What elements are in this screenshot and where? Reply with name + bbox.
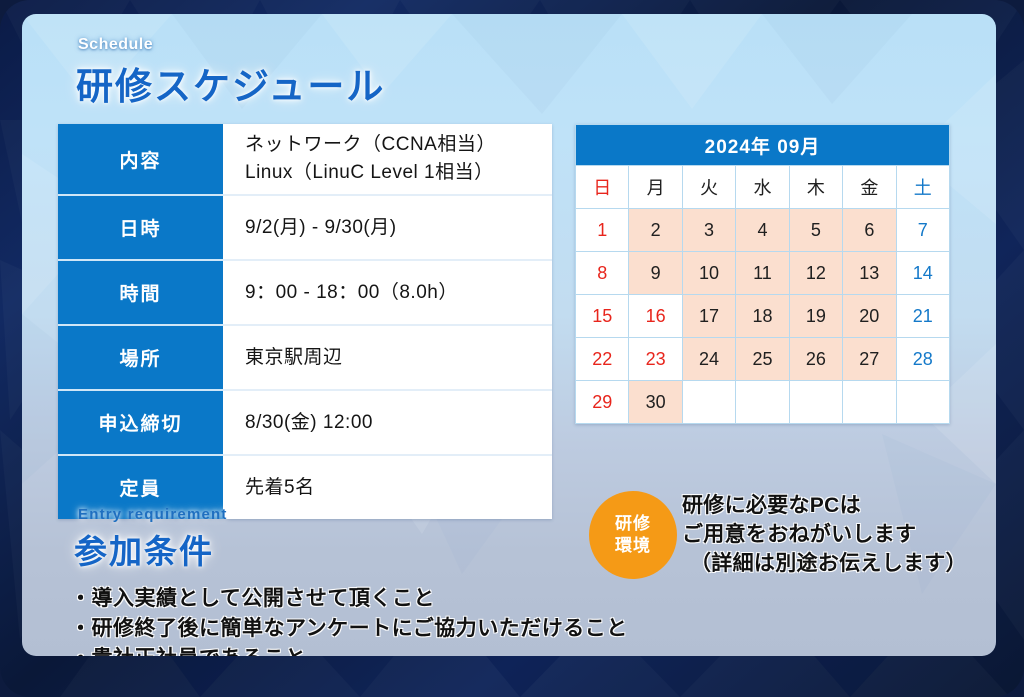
slide-canvas: Schedule 研修スケジュール 内容 ネットワーク（CCNA相当） Linu… bbox=[0, 0, 1024, 697]
table-row: 内容 ネットワーク（CCNA相当） Linux（LinuC Level 1相当） bbox=[58, 124, 552, 196]
entry-requirement-list: ・導入実績として公開させて頂くこと ・研修終了後に簡単なアンケートにご協力いただ… bbox=[70, 584, 628, 656]
entry-requirement-eyebrow: Entry requirement bbox=[78, 506, 228, 523]
calendar-week-row: 15161718192021 bbox=[576, 295, 950, 338]
entry-requirement-title: 参加条件 bbox=[74, 525, 214, 573]
pc-requirement-note: 研修に必要なPCは ご用意をおねがいします （詳細は別途お伝えします） bbox=[682, 492, 967, 579]
calendar-day-empty bbox=[789, 381, 842, 424]
calendar-day-23: 23 bbox=[629, 338, 682, 381]
calendar-day-5: 5 bbox=[789, 209, 842, 252]
schedule-info-table: 内容 ネットワーク（CCNA相当） Linux（LinuC Level 1相当）… bbox=[58, 124, 552, 519]
row-label-basho: 場所 bbox=[58, 326, 223, 391]
calendar-body: 1234567891011121314151617181920212223242… bbox=[576, 209, 950, 424]
calendar-weekday-row: 日 月 火 水 木 金 土 bbox=[576, 166, 950, 209]
weekday-wed: 水 bbox=[736, 166, 789, 209]
row-value-naiyou: ネットワーク（CCNA相当） Linux（LinuC Level 1相当） bbox=[223, 124, 552, 196]
calendar-day-20: 20 bbox=[843, 295, 896, 338]
calendar-day-2: 2 bbox=[629, 209, 682, 252]
table-row: 申込締切 8/30(金) 12:00 bbox=[58, 391, 552, 456]
list-item: ・貴社正社員であること bbox=[70, 644, 628, 656]
weekday-tue: 火 bbox=[682, 166, 735, 209]
calendar-day-14: 14 bbox=[896, 252, 949, 295]
calendar-day-16: 16 bbox=[629, 295, 682, 338]
calendar-day-17: 17 bbox=[682, 295, 735, 338]
pc-note-line2: ご用意をおねがいします bbox=[682, 521, 967, 550]
calendar-day-12: 12 bbox=[789, 252, 842, 295]
calendar-day-empty bbox=[736, 381, 789, 424]
weekday-sun: 日 bbox=[576, 166, 629, 209]
calendar-day-26: 26 bbox=[789, 338, 842, 381]
calendar-week-row: 1234567 bbox=[576, 209, 950, 252]
badge-line1: 研修 bbox=[615, 513, 651, 535]
calendar-day-27: 27 bbox=[843, 338, 896, 381]
table-row: 日時 9/2(月) - 9/30(月) bbox=[58, 196, 552, 261]
weekday-fri: 金 bbox=[843, 166, 896, 209]
row-value-moushikomi-shimekiri: 8/30(金) 12:00 bbox=[223, 391, 552, 456]
header-eyebrow: Schedule bbox=[78, 36, 153, 54]
row-value-basho: 東京駅周辺 bbox=[223, 326, 552, 391]
row-label-nichiji: 日時 bbox=[58, 196, 223, 261]
calendar-day-21: 21 bbox=[896, 295, 949, 338]
calendar-day-24: 24 bbox=[682, 338, 735, 381]
calendar-day-1: 1 bbox=[576, 209, 629, 252]
pc-note-line3: （詳細は別途お伝えします） bbox=[682, 550, 967, 579]
calendar-day-empty bbox=[896, 381, 949, 424]
calendar: 2024年 09月 日 月 火 水 木 金 土 1234567891011121… bbox=[575, 124, 950, 424]
calendar-day-28: 28 bbox=[896, 338, 949, 381]
calendar-day-18: 18 bbox=[736, 295, 789, 338]
calendar-day-19: 19 bbox=[789, 295, 842, 338]
weekday-thu: 木 bbox=[789, 166, 842, 209]
calendar-day-30: 30 bbox=[629, 381, 682, 424]
row-value-naiyou-line2: Linux（LinuC Level 1相当） bbox=[245, 159, 552, 187]
calendar-day-8: 8 bbox=[576, 252, 629, 295]
calendar-title: 2024年 09月 bbox=[576, 125, 950, 166]
calendar-day-9: 9 bbox=[629, 252, 682, 295]
calendar-title-row: 2024年 09月 bbox=[576, 125, 950, 166]
list-item: ・導入実績として公開させて頂くこと bbox=[70, 584, 628, 614]
weekday-sat: 土 bbox=[896, 166, 949, 209]
table-row: 時間 9：00 - 18：00（8.0h） bbox=[58, 261, 552, 326]
row-value-teiin: 先着5名 bbox=[223, 456, 552, 519]
list-item: ・研修終了後に簡単なアンケートにご協力いただけること bbox=[70, 614, 628, 644]
calendar-day-4: 4 bbox=[736, 209, 789, 252]
calendar-day-29: 29 bbox=[576, 381, 629, 424]
row-value-nichiji: 9/2(月) - 9/30(月) bbox=[223, 196, 552, 261]
calendar-day-empty bbox=[682, 381, 735, 424]
calendar-week-row: 22232425262728 bbox=[576, 338, 950, 381]
row-value-jikan: 9：00 - 18：00（8.0h） bbox=[223, 261, 552, 326]
calendar-day-3: 3 bbox=[682, 209, 735, 252]
calendar-day-13: 13 bbox=[843, 252, 896, 295]
calendar-day-7: 7 bbox=[896, 209, 949, 252]
calendar-day-25: 25 bbox=[736, 338, 789, 381]
row-label-naiyou: 内容 bbox=[58, 124, 223, 196]
calendar-day-15: 15 bbox=[576, 295, 629, 338]
calendar-day-22: 22 bbox=[576, 338, 629, 381]
calendar-day-11: 11 bbox=[736, 252, 789, 295]
content-panel: Schedule 研修スケジュール 内容 ネットワーク（CCNA相当） Linu… bbox=[22, 14, 996, 656]
calendar-day-10: 10 bbox=[682, 252, 735, 295]
table-row: 場所 東京駅周辺 bbox=[58, 326, 552, 391]
pc-note-line1: 研修に必要なPCは bbox=[682, 492, 967, 521]
calendar-week-row: 2930 bbox=[576, 381, 950, 424]
calendar-day-empty bbox=[843, 381, 896, 424]
row-value-naiyou-line1: ネットワーク（CCNA相当） bbox=[245, 134, 496, 155]
calendar-day-6: 6 bbox=[843, 209, 896, 252]
row-label-moushikomi-shimekiri: 申込締切 bbox=[58, 391, 223, 456]
weekday-mon: 月 bbox=[629, 166, 682, 209]
calendar-week-row: 891011121314 bbox=[576, 252, 950, 295]
row-label-jikan: 時間 bbox=[58, 261, 223, 326]
page-title: 研修スケジュール bbox=[76, 56, 385, 110]
badge-line2: 環境 bbox=[615, 535, 651, 557]
training-environment-badge: 研修 環境 bbox=[589, 491, 677, 579]
